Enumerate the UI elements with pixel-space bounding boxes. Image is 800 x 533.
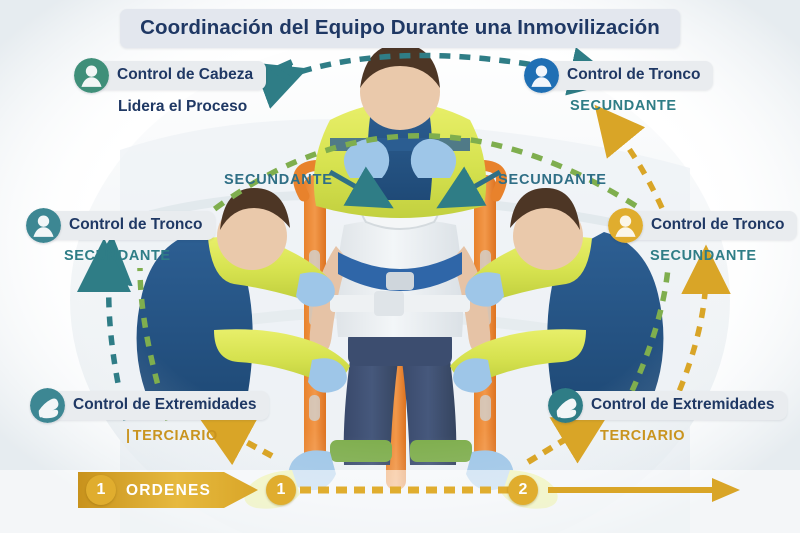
callout-head-control[interactable]: Control de Cabeza Lidera el Proceso xyxy=(74,58,266,116)
callout-trunk-right[interactable]: Control de Tronco SECUNDANTE xyxy=(608,208,797,264)
timeline-marker-1[interactable]: 1 xyxy=(266,475,296,505)
callout-trunk-left-label: Control de Tronco xyxy=(43,211,215,240)
callout-limb-left-role: |TERCIARIO xyxy=(126,428,269,444)
callout-trunk-right-role: SECUNDANTE xyxy=(650,248,797,264)
callout-limb-right-label: Control de Extremidades xyxy=(565,391,787,420)
infographic-canvas: Coordinación del Equipo Durante una Inmo… xyxy=(0,0,800,533)
callout-limb-left-role-text: TERCIARIO xyxy=(133,428,218,444)
callout-head-control-label: Control de Cabeza xyxy=(91,61,266,90)
ordenes-label: ORDENES xyxy=(126,482,211,500)
callout-limb-left-label: Control de Extremidades xyxy=(47,391,269,420)
callout-trunk-top-right-role: SECUNDANTE xyxy=(570,98,713,114)
orders-timeline: 1 ORDENES 1 2 xyxy=(0,458,800,533)
person-icon xyxy=(26,208,61,243)
role-prefix-bar: | xyxy=(126,428,131,444)
callout-trunk-top-right[interactable]: Control de Tronco SECUNDANTE xyxy=(524,58,713,114)
person-icon xyxy=(608,208,643,243)
callout-trunk-left-role: SECUNDANTE xyxy=(64,248,215,264)
callout-trunk-right-label: Control de Tronco xyxy=(625,211,797,240)
callout-trunk-top-right-label: Control de Tronco xyxy=(541,61,713,90)
timeline-svg xyxy=(0,458,800,533)
legs-icon xyxy=(30,388,65,423)
callout-limb-right-role: TERCIARIO xyxy=(600,428,787,444)
person-icon xyxy=(524,58,559,93)
person-icon xyxy=(74,58,109,93)
callout-head-control-role: Lidera el Proceso xyxy=(118,98,266,116)
timeline-banner-number: 1 xyxy=(86,475,116,505)
timeline-marker-2[interactable]: 2 xyxy=(508,475,538,505)
legs-icon xyxy=(548,388,583,423)
tag-secundante-right: SECUNDANTE xyxy=(498,172,607,188)
tag-secundante-left: SECUNDANTE xyxy=(224,172,333,188)
callout-trunk-left[interactable]: Control de Tronco SECUNDANTE xyxy=(26,208,215,264)
callout-limb-left[interactable]: Control de Extremidades |TERCIARIO xyxy=(30,388,269,444)
callout-limb-right[interactable]: Control de Extremidades TERCIARIO xyxy=(548,388,787,444)
page-title: Coordinación del Equipo Durante una Inmo… xyxy=(120,9,680,48)
